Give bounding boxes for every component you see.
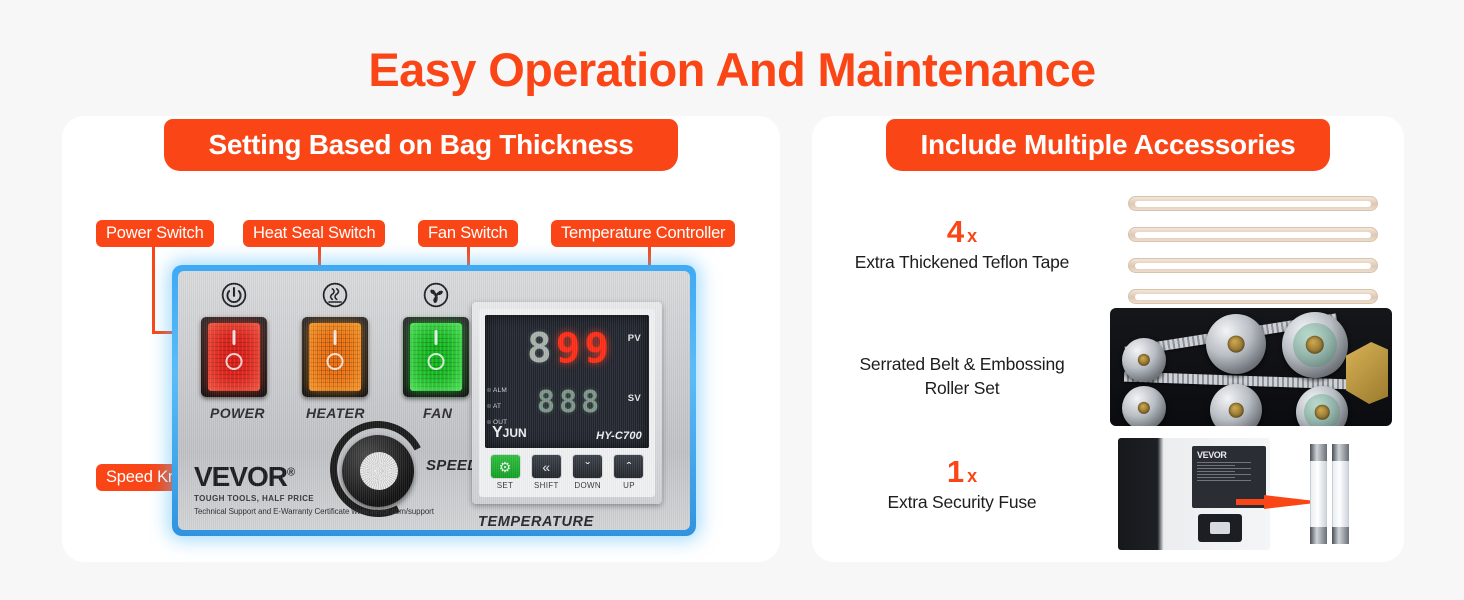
- indicator-at: AT: [493, 403, 501, 410]
- accessory-belt-desc: Serrated Belt & Embossing Roller Set: [828, 353, 1096, 400]
- controller-up-button[interactable]: ˆ UP: [612, 454, 646, 490]
- callout-heat-seal-switch: Heat Seal Switch: [243, 220, 385, 247]
- vevor-tagline: TOUGH TOOLS, HALF PRICE: [194, 494, 434, 503]
- teflon-tape-loop: [1128, 289, 1378, 304]
- temperature-controller-body: 8 9 9 PV 8 8 8 SV ALM AT OUT: [479, 309, 655, 497]
- chevron-down-icon: ˇ: [572, 454, 603, 479]
- temperature-label: TEMPERATURE: [478, 514, 594, 530]
- pv-digit-1: 8: [527, 329, 551, 368]
- sv-digit-1: 8: [537, 389, 554, 418]
- sv-tag: SV: [628, 393, 641, 404]
- callout-power-switch: Power Switch: [96, 220, 214, 247]
- callout-temperature-controller: Temperature Controller: [551, 220, 735, 247]
- vevor-brand-name: VEVOR®: [194, 461, 434, 493]
- controller-shift-button[interactable]: « SHIFT: [529, 454, 563, 490]
- fan-rocker-face: [410, 323, 462, 391]
- teflon-tape-loop: [1128, 258, 1378, 273]
- accessory-teflon-desc: Extra Thickened Teflon Tape: [828, 251, 1096, 275]
- teflon-tape-loop: [1128, 196, 1378, 211]
- heater-rocker-face: [309, 323, 361, 391]
- pulley: [1122, 338, 1166, 382]
- vevor-support-text: Technical Support and E-Warranty Certifi…: [194, 507, 434, 516]
- accessory-teflon-count: 4x: [828, 216, 1096, 249]
- leader-line-power-vertical: [152, 247, 155, 333]
- accessory-fuse-count: 1x: [828, 456, 1096, 489]
- control-panel-device: POWER HEATER FAN SPEED VEVOR® TOUGH TOOL…: [172, 265, 696, 536]
- pv-digit-row: 8 9 9: [527, 329, 608, 368]
- fan-switch-label: FAN: [423, 405, 452, 421]
- heater-switch-label: HEATER: [306, 405, 365, 421]
- sv-digit-row: 8 8 8: [537, 389, 598, 418]
- controller-down-button[interactable]: ˇ DOWN: [571, 454, 605, 490]
- set-button-label: SET: [497, 481, 513, 490]
- pulley: [1206, 314, 1266, 374]
- right-panel-header: Include Multiple Accessories: [886, 119, 1330, 171]
- power-switch-label: POWER: [210, 405, 265, 421]
- pv-digit-2: 9: [556, 329, 580, 368]
- brass-bracket: [1346, 342, 1388, 404]
- accessory-belt-text: Serrated Belt & Embossing Roller Set: [828, 351, 1096, 400]
- power-inlet-socket: [1198, 514, 1242, 542]
- fan-icon: [422, 281, 450, 309]
- fuse-cartridge: [1332, 444, 1349, 544]
- callout-fan-switch: Fan Switch: [418, 220, 518, 247]
- heat-seal-icon: [321, 281, 349, 309]
- power-icon: [220, 281, 248, 309]
- controller-brand: YJUN: [492, 424, 527, 442]
- power-rocker-switch[interactable]: [201, 317, 267, 397]
- down-button-label: DOWN: [574, 481, 601, 490]
- indicator-alm: ALM: [493, 387, 507, 394]
- up-button-label: UP: [623, 481, 635, 490]
- pv-digit-3: 9: [584, 329, 608, 368]
- fuse-cartridge: [1310, 444, 1327, 544]
- fuse-photo: VEVOR: [1110, 432, 1392, 556]
- temperature-controller[interactable]: 8 9 9 PV 8 8 8 SV ALM AT OUT: [472, 302, 662, 504]
- heater-rocker-switch[interactable]: [302, 317, 368, 397]
- pulley: [1210, 384, 1262, 426]
- belt-strap: [1124, 372, 1378, 391]
- teflon-tape-loops-image: [1128, 196, 1378, 306]
- fan-rocker-switch[interactable]: [403, 317, 469, 397]
- controller-set-button[interactable]: ⚙ SET: [488, 454, 522, 490]
- pulley: [1122, 386, 1166, 426]
- accessory-fuse-desc: Extra Security Fuse: [828, 491, 1096, 515]
- page-root: Easy Operation And Maintenance Setting B…: [0, 0, 1464, 600]
- accessory-teflon-text: 4x Extra Thickened Teflon Tape: [828, 216, 1096, 274]
- controller-button-row: ⚙ SET « SHIFT ˇ DOWN ˆ U: [485, 448, 649, 491]
- belt-roller-photo: [1110, 308, 1392, 426]
- rating-plate-brand: VEVOR: [1197, 450, 1261, 460]
- chevron-up-icon: ˆ: [613, 454, 644, 479]
- left-panel-header: Setting Based on Bag Thickness: [164, 119, 678, 171]
- controller-model: HY-C700: [596, 430, 642, 442]
- temperature-controller-screen: 8 9 9 PV 8 8 8 SV ALM AT OUT: [485, 315, 649, 448]
- sv-digit-2: 8: [559, 389, 576, 418]
- control-panel-face: POWER HEATER FAN SPEED VEVOR® TOUGH TOOL…: [178, 271, 690, 530]
- page-title: Easy Operation And Maintenance: [0, 42, 1464, 97]
- vevor-brand-block: VEVOR® TOUGH TOOLS, HALF PRICE Technical…: [194, 461, 434, 516]
- pulley: [1296, 386, 1348, 426]
- power-rocker-face: [208, 323, 260, 391]
- pulley: [1282, 312, 1348, 378]
- sv-digit-3: 8: [581, 389, 598, 418]
- pv-tag: PV: [628, 333, 641, 344]
- accessory-fuse-text: 1x Extra Security Fuse: [828, 456, 1096, 514]
- double-left-icon: «: [531, 454, 562, 479]
- teflon-tape-loop: [1128, 227, 1378, 242]
- gear-icon: ⚙: [490, 454, 521, 479]
- shift-button-label: SHIFT: [534, 481, 559, 490]
